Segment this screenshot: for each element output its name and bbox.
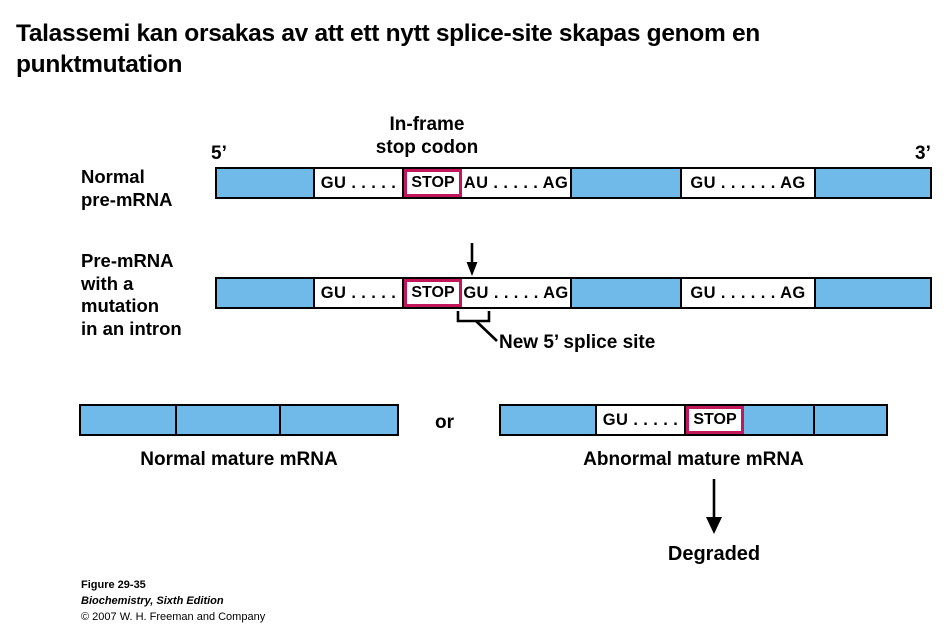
segment-intron-1: GU . . . . .: [315, 169, 404, 197]
five-prime-label-row1: 5’: [211, 142, 227, 165]
annotation-new-splice-site: New 5’ splice site: [499, 331, 655, 354]
figure-credit: Figure 29-35 Biochemistry, Sixth Edition…: [81, 578, 265, 626]
segment-exon-3: [816, 279, 930, 307]
annotation-or: or: [435, 411, 454, 434]
mrna-bar-abnormal-mature-mrna: GU . . . . . STOP: [499, 404, 888, 436]
row-label-mutant-pre-mrna: Pre-mRNA with a mutation in an intron: [81, 250, 182, 340]
segment-exon-1: [217, 279, 315, 307]
mrna-bar-normal-mature-mrna: [79, 404, 399, 436]
segment-exon-2: [744, 406, 815, 434]
annotation-degraded: Degraded: [619, 542, 809, 566]
segment-intron-2: AU . . . . . AG: [462, 169, 572, 197]
segment-stop-codon-1: STOP: [404, 279, 462, 307]
mrna-bar-mutant-pre-mrna: GU . . . . . STOP GU . . . . . AG GU . .…: [215, 277, 932, 309]
mutation-arrow-icon: [467, 243, 478, 276]
segment-exon-1: [501, 406, 597, 434]
copyright-line: © 2007 W. H. Freeman and Company: [81, 610, 265, 626]
figure-number: Figure 29-35: [81, 578, 265, 594]
annotation-in-frame-stop-codon: In-frame stop codon: [342, 113, 512, 159]
segment-exon-1: [81, 406, 177, 434]
segment-exon-2: [572, 169, 682, 197]
segment-exon-3: [281, 406, 397, 434]
book-title: Biochemistry, Sixth Edition: [81, 594, 265, 610]
degradation-arrow-icon: [706, 479, 722, 534]
segment-intron-3: GU . . . . . . AG: [682, 169, 816, 197]
row-label-normal-pre-mrna: Normal pre-mRNA: [81, 166, 172, 211]
mrna-bar-normal-pre-mrna: GU . . . . . STOP AU . . . . . AG GU . .…: [215, 167, 932, 199]
segment-intron-3: GU . . . . . . AG: [682, 279, 816, 307]
row-label-abnormal-mature-mrna: Abnormal mature mRNA: [499, 448, 888, 471]
page-title: Talassemi kan orsakas av att ett nytt sp…: [16, 18, 916, 81]
three-prime-label-row1: 3’: [915, 142, 931, 165]
segment-intron-1: GU . . . . .: [315, 279, 404, 307]
segment-exon-3: [816, 169, 930, 197]
segment-exon-3: [815, 406, 886, 434]
segment-exon-1: [217, 169, 315, 197]
segment-exon-2: [177, 406, 281, 434]
segment-stop-codon-1: STOP: [686, 406, 744, 434]
segment-intron-1: GU . . . . .: [597, 406, 686, 434]
segment-intron-2: GU . . . . . AG: [462, 279, 572, 307]
row-label-normal-mature-mrna: Normal mature mRNA: [79, 448, 399, 471]
segment-stop-codon-1: STOP: [404, 169, 462, 197]
segment-exon-2: [572, 279, 682, 307]
new-splice-site-bracket-icon: [458, 311, 497, 341]
